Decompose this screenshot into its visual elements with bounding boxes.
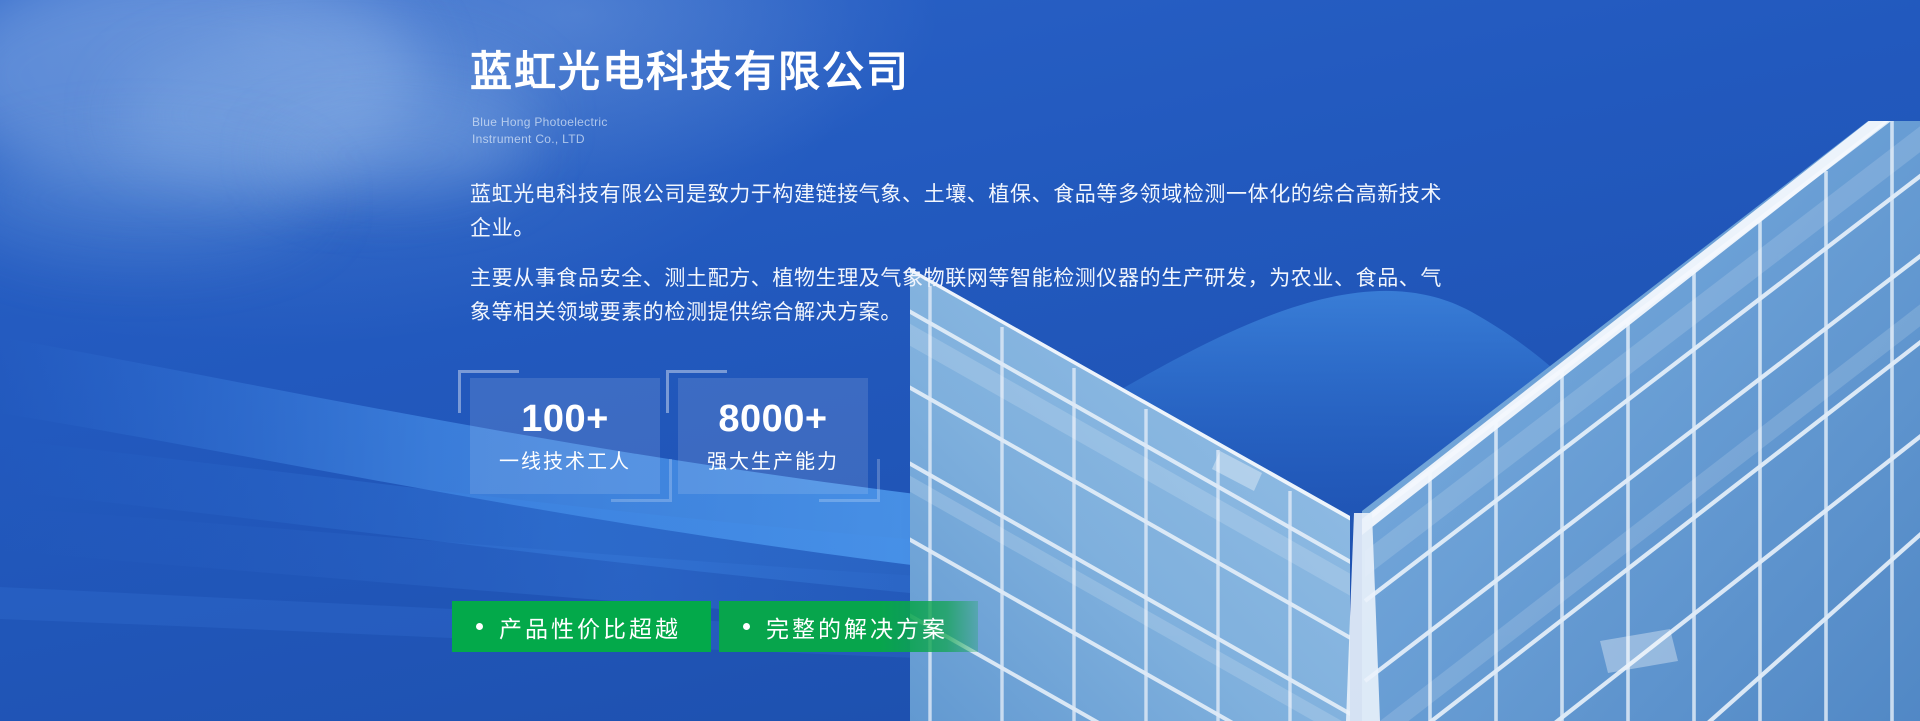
stat-label: 一线技术工人	[499, 452, 631, 472]
banner-content: 蓝虹光电科技有限公司 Blue Hong Photoelectric Instr…	[470, 0, 1830, 721]
stat-card-capacity: 8000+ 强大生产能力	[678, 378, 868, 494]
brand-subtitle-line-1: Blue Hong Photoelectric	[472, 114, 608, 131]
feature-tag-group: 产品性价比超越 完整的解决方案	[452, 601, 978, 652]
stat-number: 100+	[521, 400, 609, 438]
stat-label: 强大生产能力	[707, 452, 839, 472]
intro-paragraph-2: 主要从事食品安全、测土配方、植物生理及气象物联网等智能检测仪器的生产研发，为农业…	[470, 262, 1460, 330]
page-title: 蓝虹光电科技有限公司	[470, 48, 910, 96]
company-banner: 蓝虹光电科技有限公司 Blue Hong Photoelectric Instr…	[0, 0, 1920, 721]
stat-card-workers: 100+ 一线技术工人	[470, 378, 660, 494]
cloud-wisp-icon	[0, 140, 320, 260]
feature-tag-label: 产品性价比超越	[499, 610, 681, 644]
feature-tag-label: 完整的解决方案	[766, 610, 948, 644]
feature-tag-value: 产品性价比超越	[452, 601, 711, 652]
intro-paragraph-1: 蓝虹光电科技有限公司是致力于构建链接气象、土壤、植保、食品等多领域检测一体化的综…	[470, 178, 1460, 246]
stats-group: 100+ 一线技术工人 8000+ 强大生产能力	[470, 378, 868, 494]
bullet-dot-icon	[476, 623, 483, 630]
bullet-dot-icon	[743, 623, 750, 630]
cloud-wisp-icon	[0, 0, 420, 190]
stat-number: 8000+	[718, 400, 827, 438]
feature-tag-solution: 完整的解决方案	[719, 601, 978, 652]
brand-subtitle-line-2: Instrument Co., LTD	[472, 131, 608, 148]
brand-subtitle-en: Blue Hong Photoelectric Instrument Co., …	[472, 114, 608, 149]
